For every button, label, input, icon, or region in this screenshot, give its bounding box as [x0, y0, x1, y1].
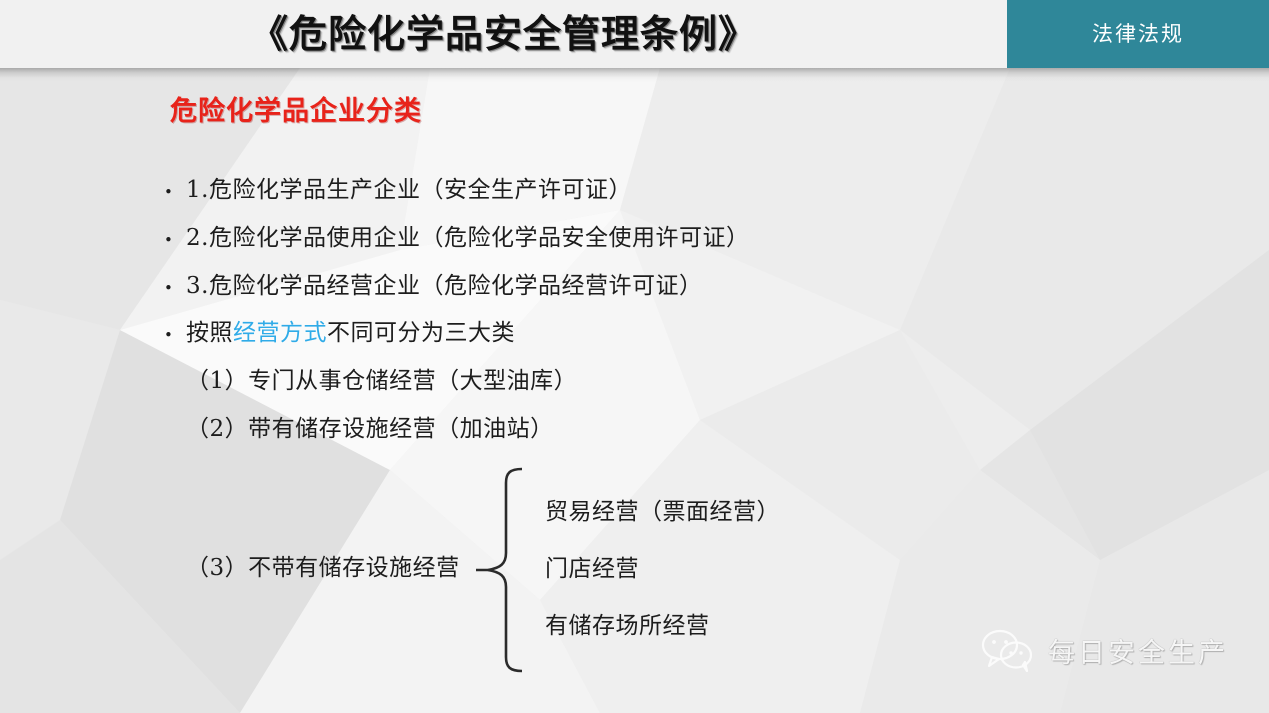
bullet-item-4-highlight: 经营方式 [233, 320, 327, 346]
curly-brace-icon [476, 465, 522, 675]
page-title: 《危险化学品安全管理条例》 [0, 0, 1007, 68]
sub-item-1: （1）专门从事仓储经营（大型油库） [186, 361, 577, 395]
bullet-item-4-prefix: 按照 [186, 320, 233, 346]
bullet-item-3: 3.危险化学品经营企业（危险化学品经营许可证） [164, 266, 702, 300]
slide-canvas: 《危险化学品安全管理条例》 法律法规 危险化学品企业分类 1.危险化学品生产企业… [0, 0, 1269, 713]
bullet-marker-icon [164, 276, 186, 298]
brace-item-1: 贸易经营（票面经营） [545, 492, 780, 526]
brace-item-2: 门店经营 [545, 549, 639, 583]
slide-header: 《危险化学品安全管理条例》 法律法规 [0, 0, 1269, 68]
bullet-item-1: 1.危险化学品生产企业（安全生产许可证） [164, 170, 632, 204]
bullet-marker-icon [164, 180, 186, 202]
bullet-item-2: 2.危险化学品使用企业（危险化学品安全使用许可证） [164, 218, 749, 252]
section-heading: 危险化学品企业分类 [170, 89, 422, 128]
bullet-item-4: 按照经营方式不同可分为三大类 [164, 313, 515, 347]
brace-item-3: 有储存场所经营 [545, 606, 710, 640]
category-badge: 法律法规 [1007, 0, 1269, 68]
bullet-item-2-text: 2.危险化学品使用企业（危险化学品安全使用许可证） [186, 225, 749, 251]
brace-group-label: （3）不带有储存设施经营 [186, 548, 460, 582]
slide-content: 危险化学品企业分类 1.危险化学品生产企业（安全生产许可证） 2.危险化学品使用… [0, 0, 1269, 713]
bullet-item-4-suffix: 不同可分为三大类 [327, 320, 515, 346]
bullet-item-3-text: 3.危险化学品经营企业（危险化学品经营许可证） [186, 273, 702, 299]
bullet-marker-icon [164, 323, 186, 345]
bullet-marker-icon [164, 228, 186, 250]
bullet-item-1-text: 1.危险化学品生产企业（安全生产许可证） [186, 177, 632, 203]
sub-item-2: （2）带有储存设施经营（加油站） [186, 409, 554, 443]
